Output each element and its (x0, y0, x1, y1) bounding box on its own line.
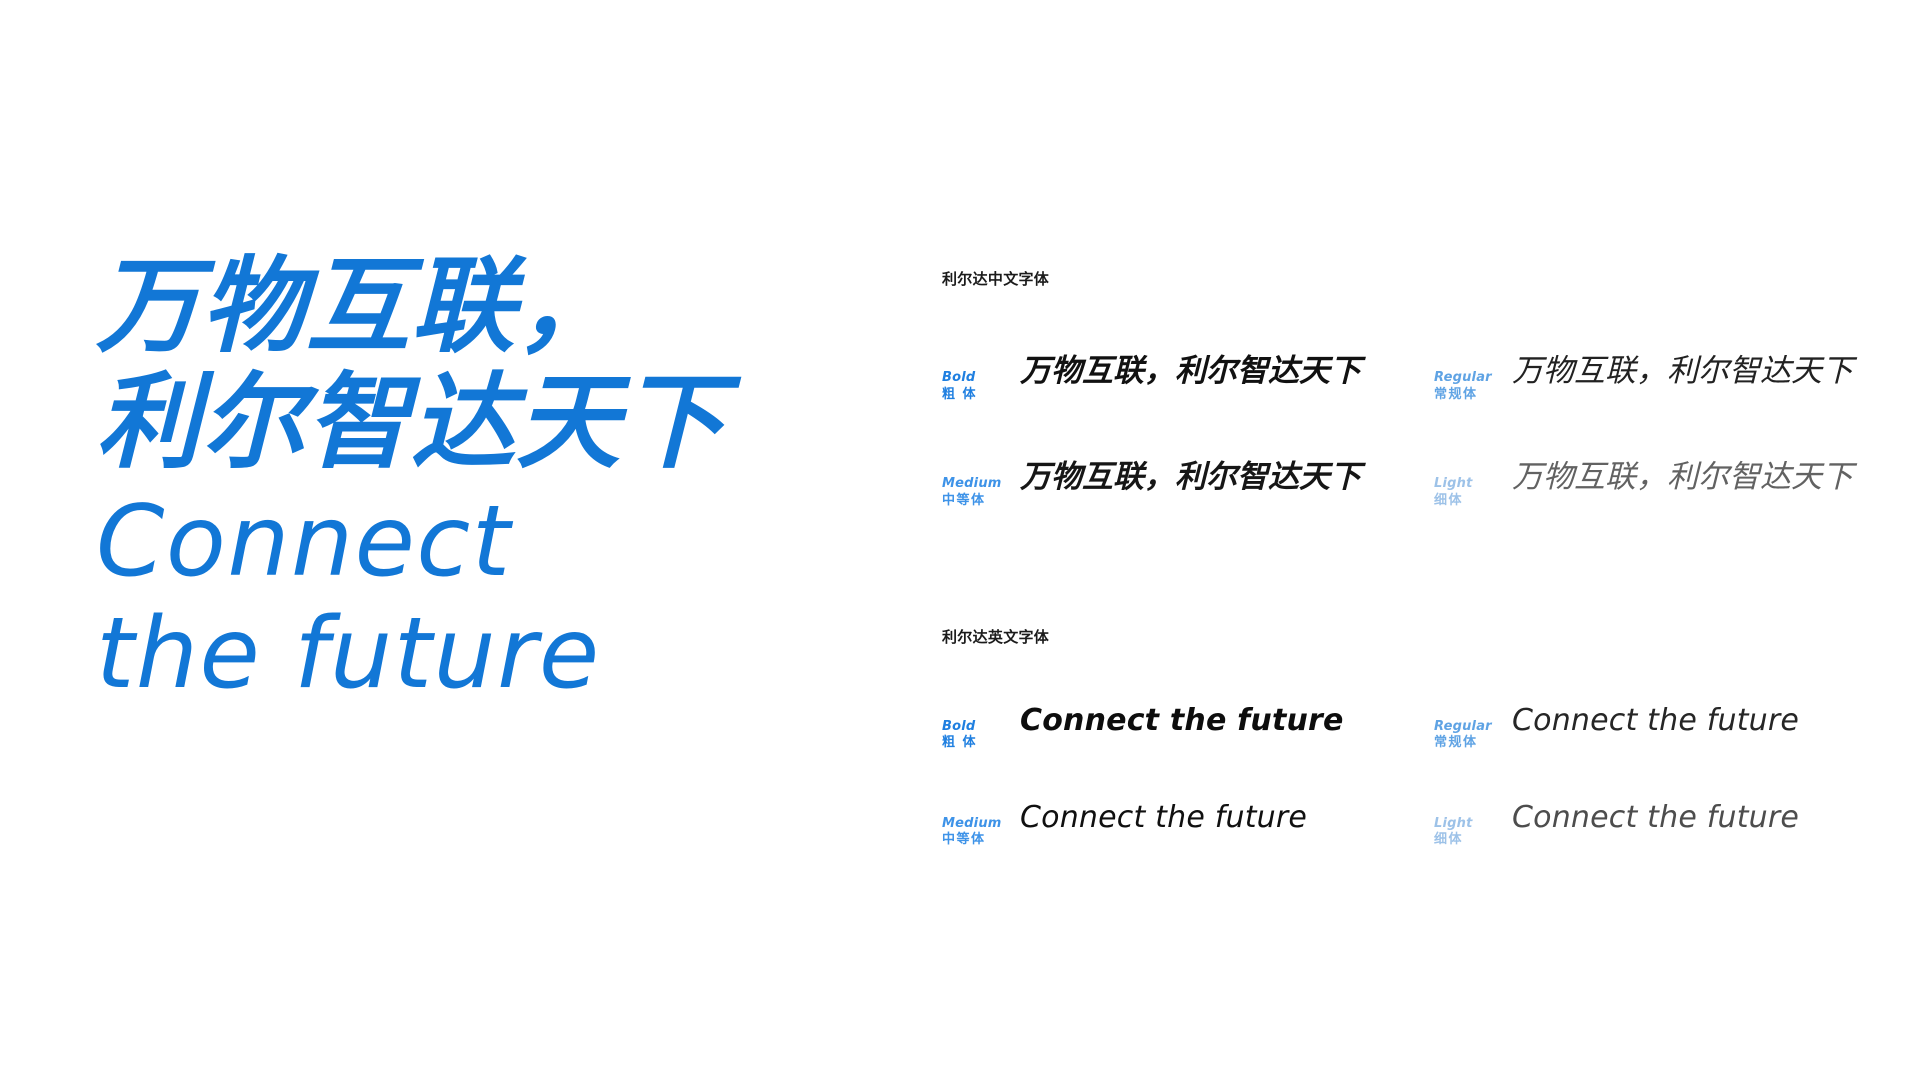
weight-label-en: Bold (942, 370, 1020, 387)
section-chinese-typeface: 利尔达中文字体 Bold 粗 体 万物互联，利尔智达天下 Regular 常规体… (942, 268, 1862, 510)
sample-chinese-light: 万物互联，利尔智达天下 (1512, 451, 1853, 496)
weight-label-cn: 粗 体 (942, 735, 1020, 752)
typography-specimen-page: { "colors": { "brand_blue": "#1277d6", "… (0, 0, 1920, 1080)
sample-chinese-medium: 万物互联，利尔智达天下 (1020, 451, 1361, 496)
weight-row-chinese-light: Light 细体 万物互联，利尔智达天下 (1434, 451, 1862, 509)
hero-chinese-line-1: 万物互联， (96, 248, 876, 364)
weight-row-english-medium: Medium 中等体 Connect the future (942, 800, 1434, 849)
weight-label-english-light: Light 细体 (1434, 814, 1512, 849)
weight-label-en: Medium (942, 476, 1020, 493)
weight-label-cn: 粗 体 (942, 387, 1020, 404)
weight-label-cn: 常规体 (1434, 735, 1512, 752)
hero-english-line-2: the future (96, 598, 876, 710)
weight-label-en: Light (1434, 476, 1512, 493)
weight-label-chinese-light: Light 细体 (1434, 474, 1512, 509)
specimen-panel: 利尔达中文字体 Bold 粗 体 万物互联，利尔智达天下 Regular 常规体… (942, 268, 1862, 849)
weight-label-cn: 常规体 (1434, 387, 1512, 404)
weight-label-cn: 中等体 (942, 832, 1020, 849)
sample-chinese-regular: 万物互联，利尔智达天下 (1512, 345, 1853, 390)
sample-english-bold: Connect the future (1020, 703, 1344, 738)
sample-english-regular: Connect the future (1512, 703, 1799, 738)
sample-english-light: Connect the future (1512, 800, 1799, 835)
chinese-weight-grid: Bold 粗 体 万物互联，利尔智达天下 Regular 常规体 万物互联，利尔… (942, 345, 1862, 510)
hero-lockup: 万物互联， 利尔智达天下 Connect the future (96, 248, 876, 710)
weight-row-english-light: Light 细体 Connect the future (1434, 800, 1862, 849)
sample-english-medium: Connect the future (1020, 800, 1307, 835)
weight-label-english-bold: Bold 粗 体 (942, 717, 1020, 752)
hero-chinese-headline: 万物互联， 利尔智达天下 (96, 248, 876, 480)
hero-english-headline: Connect the future (96, 486, 876, 710)
weight-label-english-regular: Regular 常规体 (1434, 717, 1512, 752)
weight-label-chinese-bold: Bold 粗 体 (942, 368, 1020, 403)
weight-row-english-regular: Regular 常规体 Connect the future (1434, 703, 1862, 752)
weight-row-chinese-medium: Medium 中等体 万物互联，利尔智达天下 (942, 451, 1434, 509)
hero-english-line-1: Connect (96, 485, 512, 599)
weight-label-en: Light (1434, 816, 1512, 833)
english-weight-grid: Bold 粗 体 Connect the future Regular 常规体 … (942, 703, 1862, 850)
weight-label-chinese-medium: Medium 中等体 (942, 474, 1020, 509)
weight-label-cn: 中等体 (942, 493, 1020, 510)
sample-chinese-bold: 万物互联，利尔智达天下 (1020, 345, 1361, 390)
section-english-typeface: 利尔达英文字体 Bold 粗 体 Connect the future Regu… (942, 626, 1862, 850)
hero-chinese-line-2: 利尔智达天下 (96, 364, 876, 480)
weight-label-chinese-regular: Regular 常规体 (1434, 368, 1512, 403)
weight-label-en: Bold (942, 719, 1020, 736)
weight-label-en: Regular (1434, 719, 1512, 736)
weight-row-chinese-regular: Regular 常规体 万物互联，利尔智达天下 (1434, 345, 1862, 403)
weight-label-en: Medium (942, 816, 1020, 833)
weight-label-en: Regular (1434, 370, 1512, 387)
weight-row-english-bold: Bold 粗 体 Connect the future (942, 703, 1434, 752)
section-title-english: 利尔达英文字体 (942, 626, 1862, 647)
weight-label-cn: 细体 (1434, 832, 1512, 849)
section-title-chinese: 利尔达中文字体 (942, 268, 1862, 289)
weight-label-english-medium: Medium 中等体 (942, 814, 1020, 849)
weight-label-cn: 细体 (1434, 493, 1512, 510)
weight-row-chinese-bold: Bold 粗 体 万物互联，利尔智达天下 (942, 345, 1434, 403)
